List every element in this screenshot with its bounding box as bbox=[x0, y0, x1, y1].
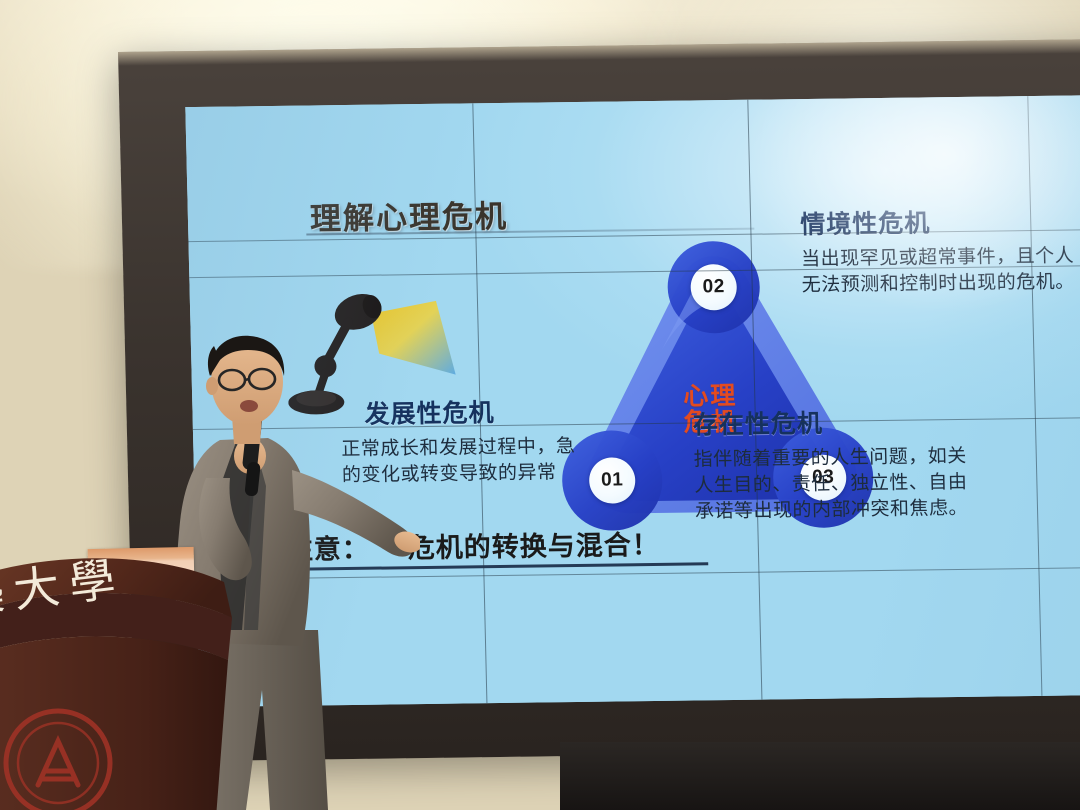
block-existential-body: 指伴随着重要的人生问题，如关 人生目的、责任、独立性、自由 承诺等出现的内部冲突… bbox=[693, 441, 1080, 526]
block-situational-body: 当出现罕见或超常事件，且个人 无法预测和控制时出现的危机。 bbox=[801, 243, 1080, 300]
lecture-room-photo: 理解心理危机 bbox=[0, 0, 1080, 810]
floor-shadow-strip bbox=[560, 742, 1080, 810]
block-existential-body-line3: 承诺等出现的内部冲突和焦虑。 bbox=[695, 494, 1080, 526]
block-situational-crisis: 情境性危机 当出现罕见或超常事件，且个人 无法预测和控制时出现的危机。 bbox=[800, 201, 1080, 300]
lectern-podium: 築大學 bbox=[0, 548, 266, 810]
bezel-highlight bbox=[118, 39, 1080, 66]
note-text: 危机的转换与混合！ bbox=[407, 523, 660, 565]
block-situational-body-line2: 无法预测和控制时出现的危机。 bbox=[801, 269, 1080, 300]
block-situational-heading: 情境性危机 bbox=[800, 201, 1080, 241]
